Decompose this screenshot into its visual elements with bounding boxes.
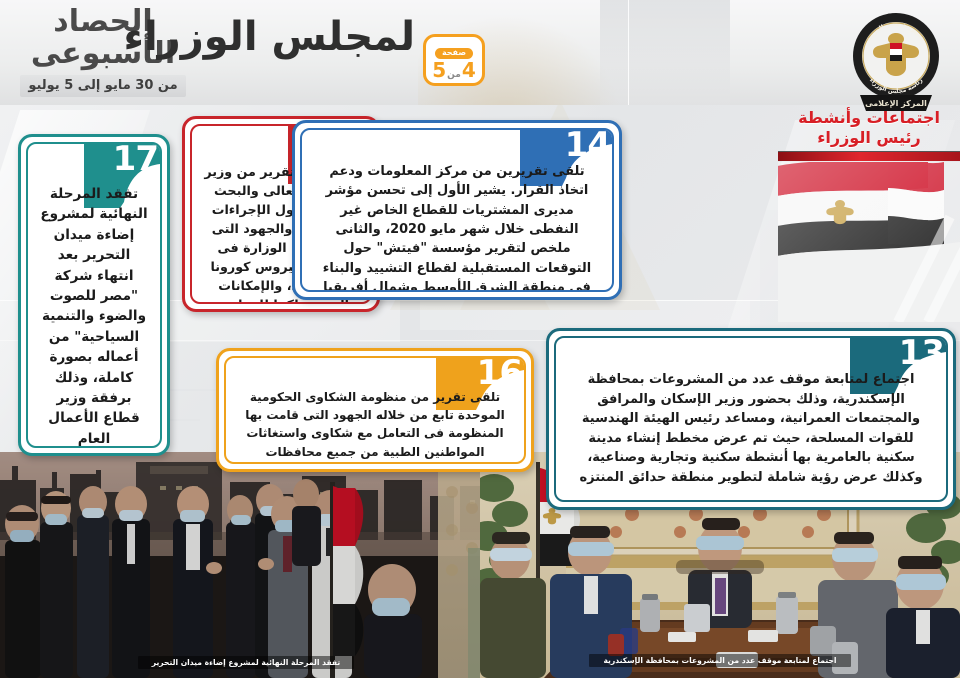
card-17-inner: 17 تفقد المرحلة النهائية لمشروع إضاءة مي…	[26, 142, 162, 448]
background-block-2	[420, 300, 750, 330]
page-badge-numbers: 4من5	[426, 60, 482, 81]
card-16-text: تلقى تقرير من منظومة الشكاوى الحكومية ال…	[226, 358, 524, 464]
card-16-inner: 16 تلقى تقرير من منظومة الشكاوى الحكومية…	[224, 356, 526, 464]
section-banner-line-1: اجتماعات وأنشطة	[778, 108, 960, 128]
card-14-text: تلقى تقريرين من مركز المعلومات ودعم اتخا…	[302, 130, 612, 292]
section-banner-bar	[778, 151, 960, 161]
page-badge-current: 4	[462, 58, 476, 82]
page-badge-total: 5	[432, 58, 446, 82]
card-17: 17 تفقد المرحلة النهائية لمشروع إضاءة مي…	[18, 134, 170, 456]
page-badge-of: من	[447, 70, 461, 80]
page-headline: لمجلس الوزراء	[124, 14, 415, 60]
card-13: 13 اجتماع لمتابعة موقف عدد من المشروعات …	[546, 328, 956, 510]
section-banner-line-2: رئيس الوزراء	[778, 128, 960, 148]
egypt-waving-flag-icon	[778, 162, 960, 322]
egypt-cabinet-idsc-emblem-icon: جمهورية مصر العربية رئاسة مجلس الوزراء ا…	[846, 9, 946, 113]
header: جمهورية مصر العربية رئاسة مجلس الوزراء ا…	[0, 0, 960, 105]
card-17-text: تفقد المرحلة النهائية لمشروع إضاءة ميدان…	[28, 144, 160, 448]
card-16: 16 تلقى تقرير من منظومة الشكاوى الحكومية…	[216, 348, 534, 472]
date-range: من 30 مايو إلى 5 يوليو	[20, 75, 185, 97]
section-banner: اجتماعات وأنشطة رئيس الوزراء	[778, 108, 960, 161]
tahrir-square-inspection-photo: تفقد المرحلة النهائية لمشروع إضاءة ميدان…	[0, 452, 492, 678]
card-13-inner: 13 اجتماع لمتابعة موقف عدد من المشروعات …	[554, 336, 948, 502]
card-14: 14 تلقى تقريرين من مركز المعلومات ودعم ا…	[292, 120, 622, 300]
page-number-badge: صفحة 4من5	[423, 34, 485, 86]
card-14-inner: 14 تلقى تقريرين من مركز المعلومات ودعم ا…	[300, 128, 614, 292]
card-13-text: اجتماع لمتابعة موقف عدد من المشروعات بمح…	[556, 338, 946, 497]
infographic-page: جمهورية مصر العربية رئاسة مجلس الوزراء ا…	[0, 0, 960, 678]
svg-text:المركز الإعلامى: المركز الإعلامى	[865, 99, 927, 108]
